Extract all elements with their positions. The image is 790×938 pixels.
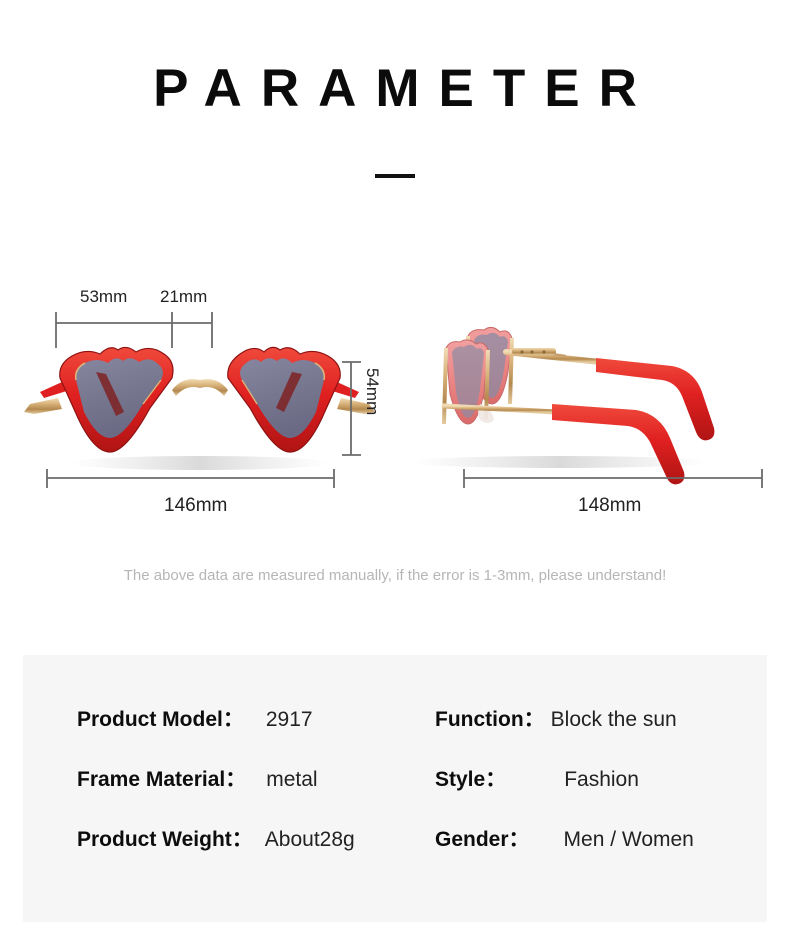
- spec-row: Product Weight： About28g Gender： Men / W…: [23, 823, 767, 883]
- spec-label-gender: Gender：: [435, 823, 530, 853]
- spec-row: Frame Material： metal Style： Fashion: [23, 763, 767, 823]
- product-dimension-diagram: 53mm 21mm 54mm 146mm 148mm: [0, 0, 790, 620]
- spec-label-frame-material: Frame Material：: [77, 763, 246, 793]
- measurement-disclaimer: The above data are measured manually, if…: [0, 567, 790, 584]
- spec-cell-frame-material: Frame Material： metal: [23, 763, 393, 793]
- lens-width-label: 53mm: [80, 287, 127, 307]
- spec-value-product-model: 2917: [266, 708, 313, 732]
- total-width-label: 146mm: [164, 495, 227, 517]
- spec-row: Product Model： 2917 Function： Block the …: [23, 703, 767, 763]
- spec-value-function: Block the sun: [551, 708, 677, 732]
- spec-value-frame-material: metal: [266, 768, 317, 792]
- lens-height-label: 54mm: [362, 368, 382, 415]
- spec-label-product-model: Product Model：: [77, 703, 244, 733]
- spec-cell-gender: Gender： Men / Women: [393, 823, 767, 853]
- bridge-width-label: 21mm: [160, 287, 207, 307]
- spec-cell-style: Style： Fashion: [393, 763, 767, 793]
- spec-cell-function: Function： Block the sun: [393, 703, 767, 733]
- spec-value-product-weight: About28g: [265, 828, 355, 852]
- spec-label-function: Function：: [435, 703, 545, 733]
- spec-cell-product-model: Product Model： 2917: [23, 703, 393, 733]
- spec-label-product-weight: Product Weight：: [77, 823, 253, 853]
- temple-length-label: 148mm: [578, 495, 641, 517]
- spec-value-gender: Men / Women: [564, 828, 694, 852]
- specification-panel: Product Model： 2917 Function： Block the …: [23, 655, 767, 922]
- dimension-illustration-svg: [0, 0, 790, 620]
- spec-cell-product-weight: Product Weight： About28g: [23, 823, 393, 853]
- spec-label-style: Style：: [435, 763, 506, 793]
- spec-value-style: Fashion: [564, 768, 639, 792]
- specification-grid: Product Model： 2917 Function： Block the …: [23, 703, 767, 883]
